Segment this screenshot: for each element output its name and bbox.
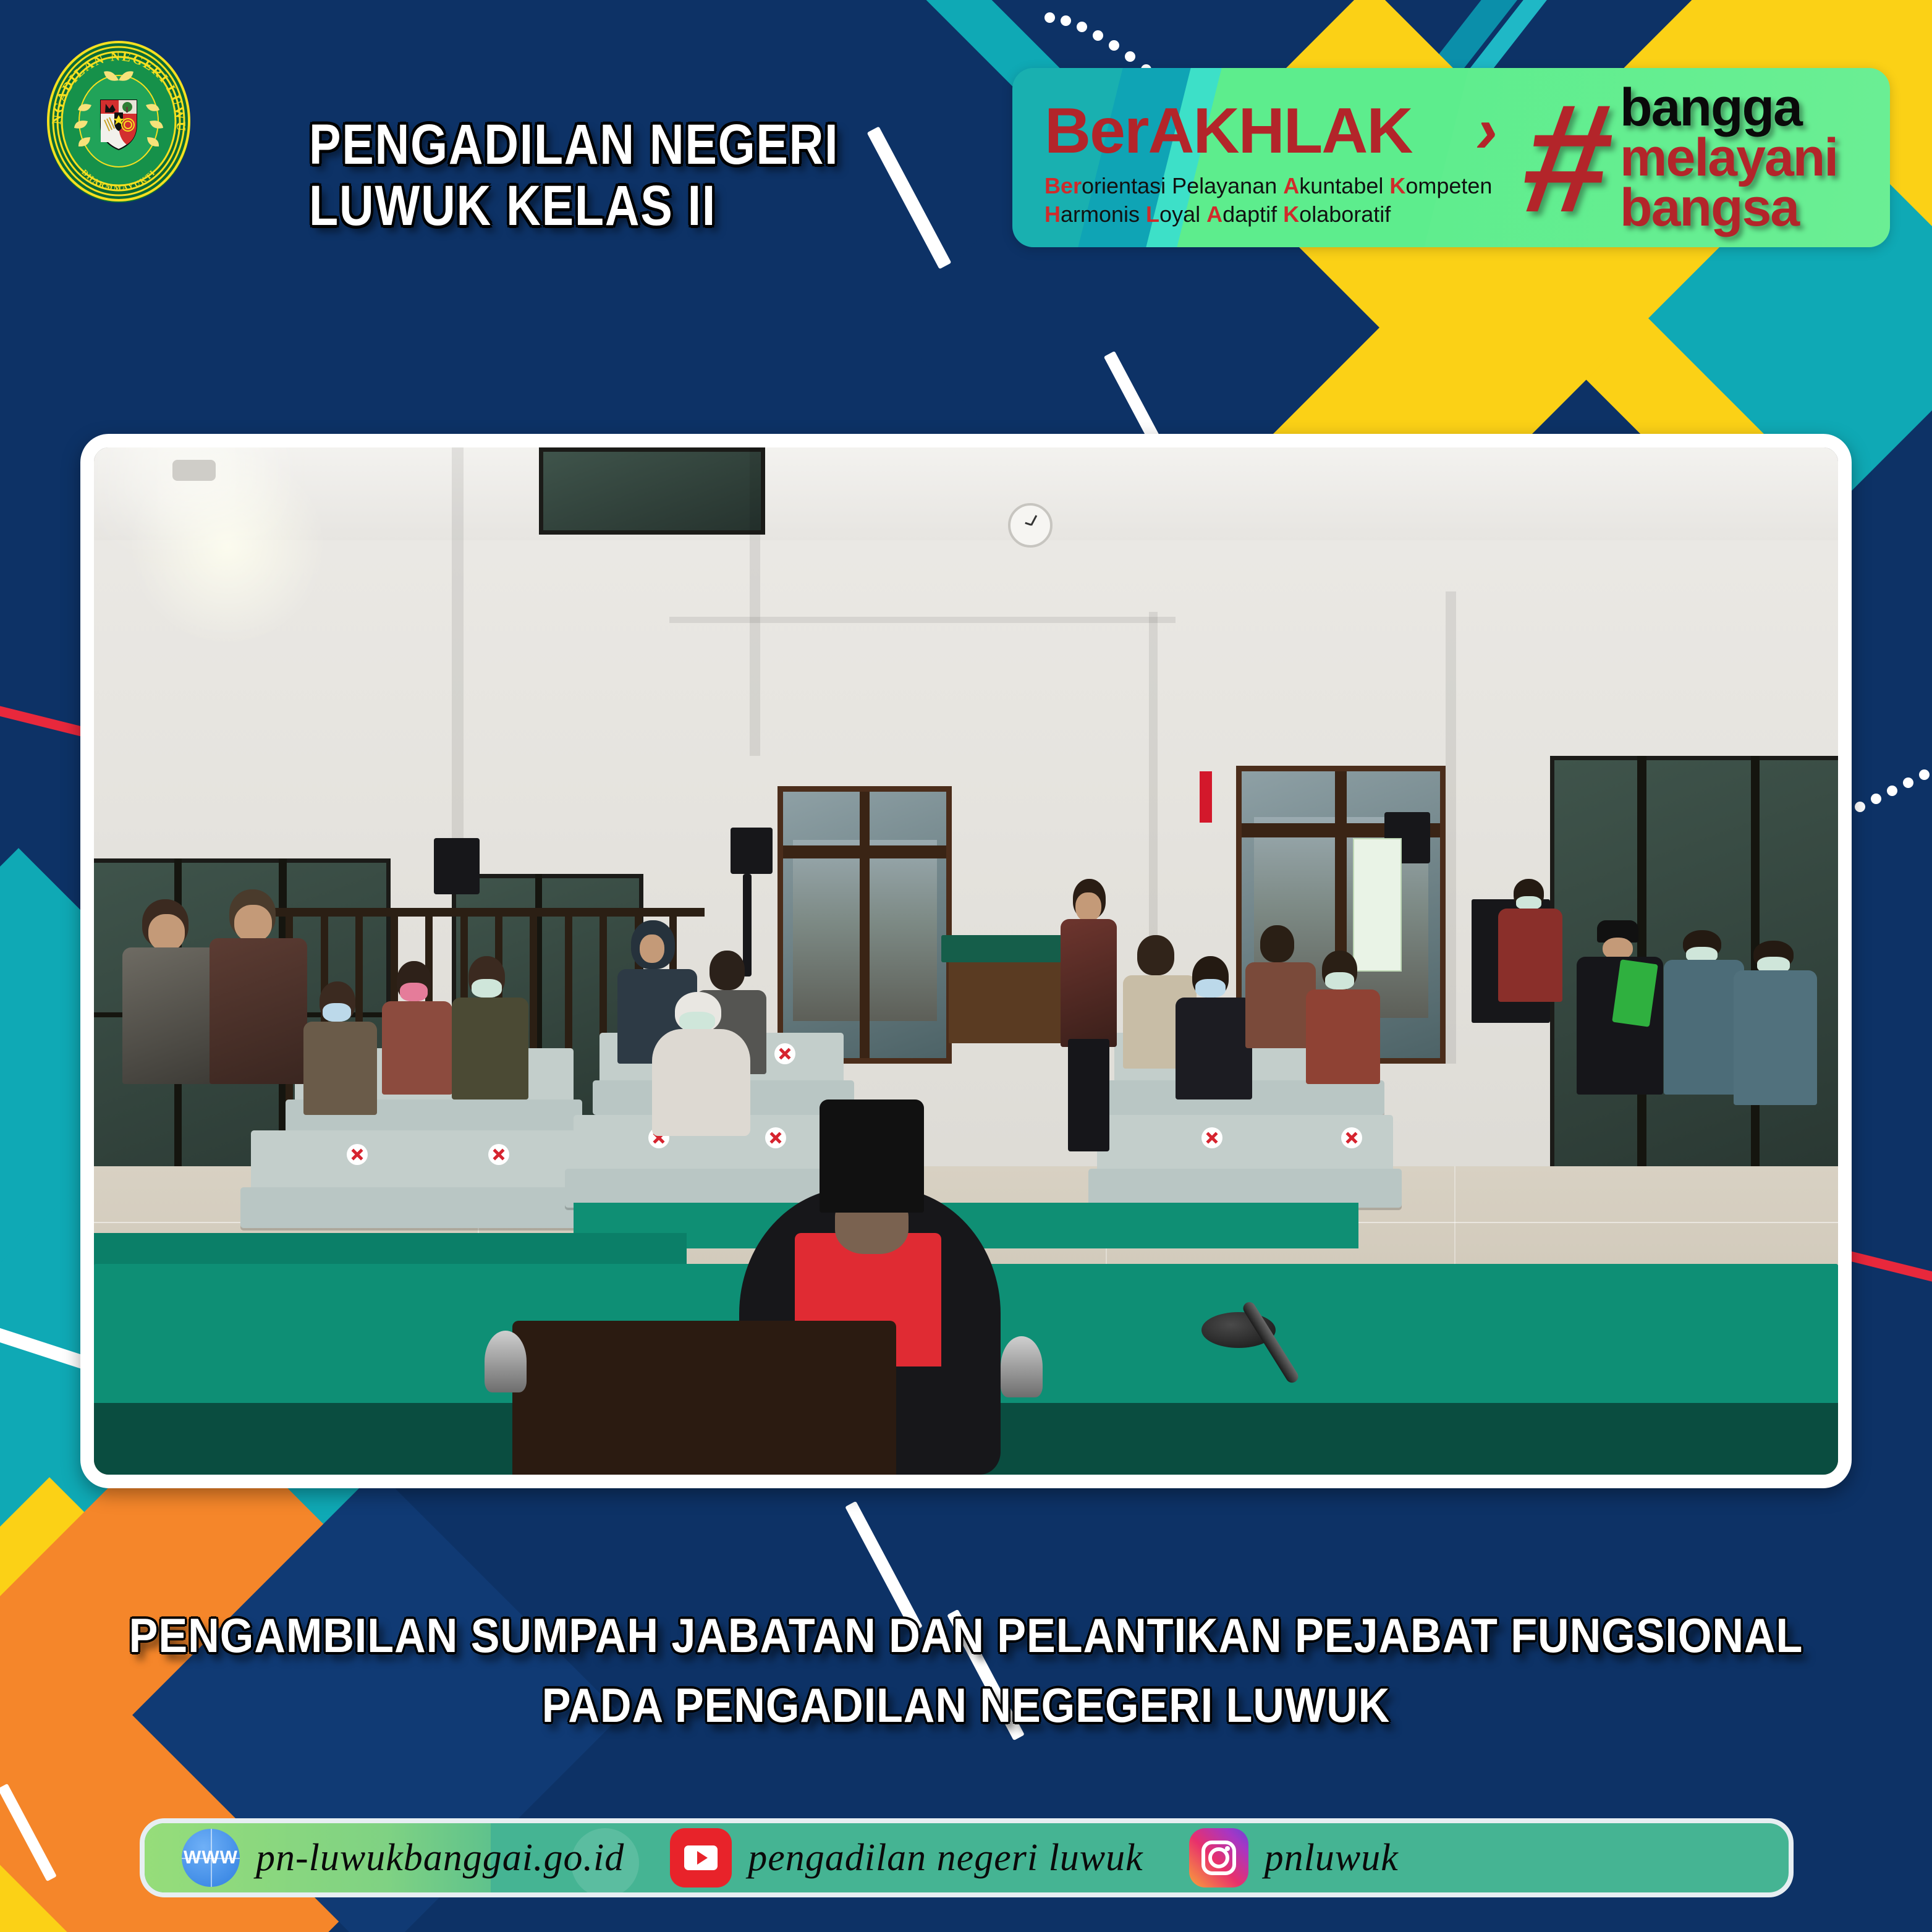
decor-dot [1855,802,1865,812]
decor-dot [1903,777,1913,788]
footer-youtube[interactable]: pengadilan negeri luwuk [624,1828,1143,1888]
photo-door-left-bar [860,792,870,1058]
instagram-icon [1189,1828,1248,1888]
social-footer-bar: WWW pn-luwukbanggai.go.id pengadilan neg… [140,1818,1794,1897]
photo-person [1306,951,1386,1084]
caption-line-1: PENGAMBILAN SUMPAH JABATAN DAN PELANTIKA… [96,1601,1835,1671]
instagram-label: pnluwuk [1265,1836,1399,1880]
event-caption: PENGAMBILAN SUMPAH JABATAN DAN PELANTIKA… [0,1601,1932,1740]
photo-speaker-mid [731,828,773,874]
event-photo-frame [80,434,1852,1488]
photo-wall-clock [1008,503,1053,548]
photo-person [1498,879,1568,1002]
photo-person [382,961,459,1095]
photo-speaker-left [434,838,479,894]
poster-canvas: PENGADILAN NEGERI LUWUK DHARMMAYUKTI [0,0,1932,1932]
globe-icon: WWW [182,1829,240,1887]
photo-wall-edge-2 [750,447,760,756]
photo-wall-ledge [669,617,1175,623]
berakhlak-badge: BerAKHLAK › Berorientasi Pelayanan Akunt… [1012,68,1890,247]
title-line-2: LUWUK KELAS II [309,176,839,237]
website-label: pn-luwukbanggai.go.id [256,1836,624,1880]
photo-person [303,981,384,1115]
caption-line-2: PADA PENGADILAN NEGEGERI LUWUK [96,1671,1835,1740]
berakhlak-values: Berorientasi Pelayanan Akuntabel Kompete… [1044,172,1514,229]
photo-chair-knob-left [485,1331,527,1392]
page-title: PENGADILAN NEGERI LUWUK KELAS II [309,114,839,237]
slogan-stack: bangga melayani bangsa [1620,83,1837,232]
slogan-line-3: bangsa [1620,183,1837,233]
photo-flag [1200,771,1212,823]
slogan-line-1: bangga [1620,83,1837,133]
values-line-2: Harmonis Loyal Adaptif Kolaboratif [1044,200,1514,229]
title-line-1: PENGADILAN NEGERI [309,114,839,176]
values-line-1: Berorientasi Pelayanan Akuntabel Kompete… [1044,172,1514,200]
bangga-melayani-bangsa-lockup: # bangga melayani bangsa [1525,83,1837,232]
photo-lamp-glow [129,447,326,645]
photo-person-green-stole [1577,920,1671,1095]
photo-chair-knob-right [1001,1336,1043,1398]
berakhlak-text-block: BerAKHLAK › Berorientasi Pelayanan Akunt… [1044,99,1514,229]
decor-dot [1871,794,1881,804]
court-seal-logo: PENGADILAN NEGERI LUWUK DHARMMAYUKTI [38,36,199,203]
photo-person-officer [1734,941,1824,1105]
poster-header: PENGADILAN NEGERI LUWUK DHARMMAYUKTI [0,0,1932,297]
event-photo [94,447,1838,1475]
photo-ceiling [94,447,1838,540]
photo-door-left-rail [783,845,946,859]
photo-person [452,956,535,1100]
photo-upper-window [539,447,766,535]
youtube-icon [670,1828,732,1888]
photo-door-left [777,786,952,1064]
youtube-label: pengadilan negeri luwuk [748,1836,1143,1880]
photo-person-standing [1053,879,1128,1146]
slogan-line-2: melayani [1620,133,1837,183]
decor-dot [1919,769,1930,780]
footer-website[interactable]: WWW pn-luwukbanggai.go.id [145,1829,624,1887]
footer-instagram[interactable]: pnluwuk [1143,1828,1399,1888]
photo-wall-edge-4 [1446,591,1456,1064]
photo-ceiling-lamp [172,460,216,481]
photo-person [652,992,756,1136]
berakhlak-wordmark: BerAKHLAK [1044,99,1514,163]
decor-dot [1887,786,1897,796]
hashtag-icon: # [1517,98,1619,218]
photo-chair-carving [512,1321,896,1475]
